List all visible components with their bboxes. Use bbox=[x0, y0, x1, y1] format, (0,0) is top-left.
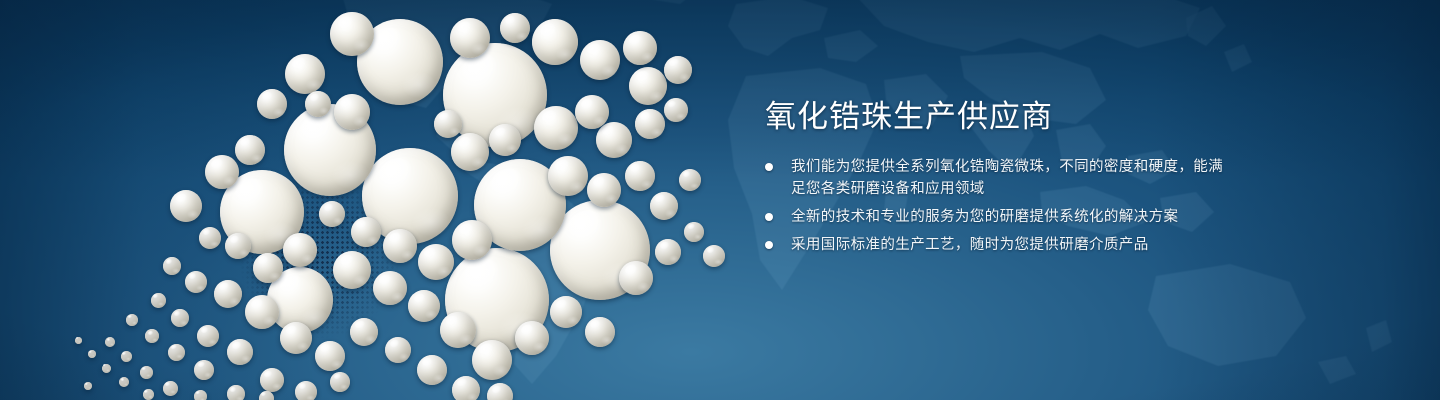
banner-content: 氧化锆珠生产供应商 我们能为您提供全系列氧化锆陶瓷微珠，不同的密度和硬度，能满足… bbox=[765, 100, 1235, 256]
bead bbox=[151, 293, 166, 308]
bead bbox=[197, 325, 219, 347]
bead bbox=[451, 133, 489, 171]
zirconia-ceramic-bead-cluster bbox=[0, 0, 760, 400]
list-item-label: 我们能为您提供全系列氧化锆陶瓷微珠，不同的密度和硬度，能满足您各类研磨设备和应用… bbox=[791, 159, 1223, 197]
bead bbox=[227, 339, 253, 365]
bead bbox=[280, 322, 312, 354]
bead bbox=[315, 341, 345, 371]
bead bbox=[408, 290, 440, 322]
bead bbox=[199, 227, 221, 249]
bead bbox=[333, 251, 371, 289]
bead bbox=[664, 98, 688, 122]
bead bbox=[235, 135, 265, 165]
bead bbox=[305, 91, 331, 117]
bead bbox=[619, 261, 653, 295]
bead bbox=[214, 280, 242, 308]
bead bbox=[623, 31, 657, 65]
bead bbox=[334, 94, 370, 130]
bead bbox=[548, 156, 588, 196]
bead bbox=[629, 67, 667, 105]
bead bbox=[119, 377, 129, 387]
list-item: 我们能为您提供全系列氧化锆陶瓷微珠，不同的密度和硬度，能满足您各类研磨设备和应用… bbox=[765, 156, 1235, 200]
bead bbox=[664, 56, 692, 84]
bead bbox=[679, 169, 701, 191]
bead bbox=[575, 95, 609, 129]
list-item-label: 全新的技术和专业的服务为您的研磨提供系统化的解决方案 bbox=[791, 209, 1178, 225]
bullet-dot-icon bbox=[765, 213, 773, 221]
bead bbox=[285, 54, 325, 94]
bead bbox=[385, 337, 411, 363]
bead bbox=[194, 360, 214, 380]
bead bbox=[487, 383, 513, 400]
bead bbox=[295, 381, 317, 400]
page-title: 氧化锆珠生产供应商 bbox=[765, 100, 1235, 134]
bead bbox=[257, 89, 287, 119]
bead bbox=[596, 122, 632, 158]
bead bbox=[75, 337, 82, 344]
bead bbox=[684, 222, 704, 242]
bead bbox=[655, 239, 681, 265]
bead bbox=[532, 19, 578, 65]
feature-list: 我们能为您提供全系列氧化锆陶瓷微珠，不同的密度和硬度，能满足您各类研磨设备和应用… bbox=[765, 156, 1235, 256]
bullet-dot-icon bbox=[765, 241, 773, 249]
bead bbox=[194, 390, 207, 400]
bead bbox=[259, 391, 274, 400]
bead bbox=[550, 296, 582, 328]
bead bbox=[418, 244, 454, 280]
bead bbox=[140, 366, 153, 379]
bead bbox=[168, 344, 185, 361]
bead bbox=[163, 257, 181, 275]
bead bbox=[500, 13, 530, 43]
bullet-dot-icon bbox=[765, 163, 773, 171]
bead bbox=[373, 271, 407, 305]
bead bbox=[227, 385, 245, 400]
bead bbox=[143, 389, 154, 400]
bead bbox=[417, 355, 447, 385]
bead bbox=[452, 376, 480, 400]
bead bbox=[245, 295, 279, 329]
bead bbox=[225, 233, 251, 259]
list-item: 全新的技术和专业的服务为您的研磨提供系统化的解决方案 bbox=[765, 206, 1235, 228]
bead bbox=[330, 12, 374, 56]
bead bbox=[587, 173, 621, 207]
bead bbox=[434, 110, 462, 138]
bead bbox=[625, 161, 655, 191]
bead bbox=[88, 350, 96, 358]
bead bbox=[105, 337, 115, 347]
bead bbox=[452, 220, 492, 260]
bead bbox=[126, 314, 138, 326]
bead bbox=[145, 329, 159, 343]
bead bbox=[260, 368, 284, 392]
bead bbox=[171, 309, 189, 327]
bead bbox=[650, 192, 678, 220]
bead bbox=[253, 253, 283, 283]
bead bbox=[383, 229, 417, 263]
bead bbox=[351, 217, 381, 247]
bead bbox=[170, 190, 202, 222]
bead bbox=[163, 381, 178, 396]
bead bbox=[450, 18, 490, 58]
hero-banner: 氧化锆珠生产供应商 我们能为您提供全系列氧化锆陶瓷微珠，不同的密度和硬度，能满足… bbox=[0, 0, 1440, 400]
bead bbox=[205, 155, 239, 189]
bead bbox=[515, 321, 549, 355]
bead bbox=[84, 382, 92, 390]
list-item-label: 采用国际标准的生产工艺，随时为您提供研磨介质产品 bbox=[791, 237, 1149, 253]
bead bbox=[440, 312, 476, 348]
bead bbox=[185, 271, 207, 293]
bead bbox=[703, 245, 725, 267]
bead bbox=[534, 106, 578, 150]
bead bbox=[472, 340, 512, 380]
bead bbox=[580, 40, 620, 80]
bead bbox=[330, 372, 350, 392]
bead bbox=[585, 317, 615, 347]
bead bbox=[635, 109, 665, 139]
bead bbox=[319, 201, 345, 227]
list-item: 采用国际标准的生产工艺，随时为您提供研磨介质产品 bbox=[765, 234, 1235, 256]
bead bbox=[102, 364, 111, 373]
bead bbox=[489, 124, 521, 156]
bead bbox=[121, 351, 132, 362]
bead bbox=[283, 233, 317, 267]
bead bbox=[350, 318, 378, 346]
